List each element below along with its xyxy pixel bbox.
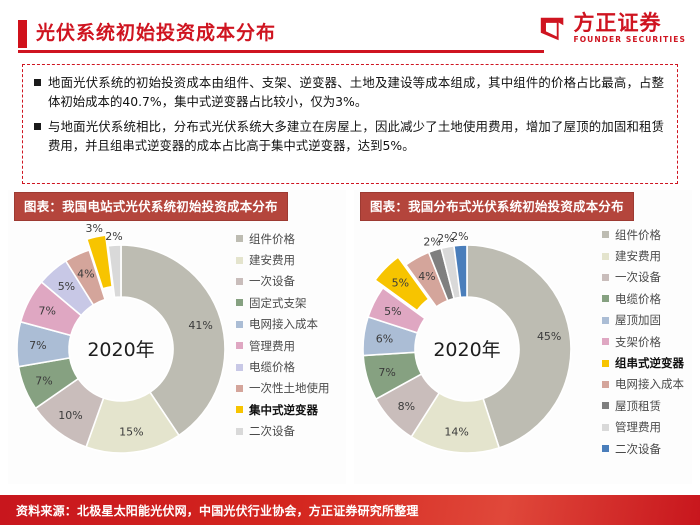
brand-logo: 方正证券 FOUNDER SECURITIES (538, 13, 686, 45)
legend-label: 屋顶加固 (615, 314, 661, 326)
legend-label: 二次设备 (615, 443, 661, 455)
legend-swatch-icon (236, 257, 243, 264)
legend-swatch-icon (602, 295, 609, 302)
summary-callout-box: 地面光伏系统的初始投资成本由组件、支架、逆变器、土地及建设等成本组成，其中组件的… (22, 64, 678, 184)
slice-value-label: 7% (29, 339, 46, 352)
legend-swatch-icon (602, 360, 609, 367)
legend-swatch-icon (602, 231, 609, 238)
legend-swatch-icon (602, 317, 609, 324)
legend-swatch-icon (236, 278, 243, 285)
legend-swatch-icon (602, 274, 609, 281)
summary-bullet-item: 地面光伏系统的初始投资成本由组件、支架、逆变器、土地及建设等成本组成，其中组件的… (32, 74, 664, 111)
square-bullet-icon (34, 79, 41, 86)
legend-swatch-icon (236, 342, 243, 349)
slice-value-label: 45% (537, 330, 561, 343)
legend-item[interactable]: 集中式逆变器 (236, 399, 330, 420)
legend-item[interactable]: 屋顶租赁 (602, 395, 684, 416)
legend-swatch-icon (602, 445, 609, 452)
founder-logo-icon (538, 14, 568, 44)
legend-item[interactable]: 管理费用 (236, 335, 330, 356)
slice-value-label: 14% (444, 426, 468, 439)
legend-item[interactable]: 组件价格 (236, 228, 330, 249)
donut-svg-0: 41%15%10%7%7%7%5%4%3%2%2020年 (8, 224, 238, 474)
chart-title-1: 图表：我国分布式光伏系统初始投资成本分布 (360, 192, 634, 221)
legend-swatch-icon (602, 381, 609, 388)
legend-item[interactable]: 电缆价格 (602, 288, 684, 309)
legend-item[interactable]: 电缆价格 (236, 356, 330, 377)
legend-swatch-icon (236, 428, 243, 435)
legend-swatch-icon (602, 402, 609, 409)
legend-label: 一次设备 (249, 275, 295, 287)
header-underline (18, 50, 544, 53)
legend-item[interactable]: 组件价格 (602, 224, 684, 245)
donut-chart-0: 41%15%10%7%7%7%5%4%3%2%2020年 组件价格建安费用一次设… (8, 224, 346, 482)
legend-label: 一次设备 (615, 271, 661, 283)
legend-label: 固定式支架 (249, 297, 307, 309)
donut-svg-1: 45%14%8%7%6%5%5%4%2%2%2%2020年 (354, 224, 584, 474)
legend-item[interactable]: 一次设备 (236, 271, 330, 292)
chart-legend-0: 组件价格建安费用一次设备固定式支架电网接入成本管理费用电缆价格一次性土地使用集中… (236, 228, 330, 442)
slice-value-label: 4% (418, 270, 435, 283)
legend-item[interactable]: 一次设备 (602, 267, 684, 288)
legend-item[interactable]: 一次性土地使用 (236, 378, 330, 399)
legend-label: 组件价格 (615, 229, 661, 241)
chart-legend-1: 组件价格建安费用一次设备电缆价格屋顶加固支架价格组串式逆变器电网接入成本屋顶租赁… (602, 224, 684, 459)
chart-panel-utility-scale: 图表：我国电站式光伏系统初始投资成本分布 41%15%10%7%7%7%5%4%… (8, 190, 346, 484)
legend-label: 电网接入成本 (615, 378, 684, 390)
legend-label: 一次性土地使用 (249, 382, 330, 394)
slice-value-label: 7% (39, 304, 56, 317)
slice-value-label: 4% (77, 268, 94, 281)
legend-swatch-icon (236, 385, 243, 392)
logo-text-cn: 方正证券 (573, 13, 686, 34)
legend-label: 电网接入成本 (249, 318, 318, 330)
slice-value-label: 7% (35, 375, 52, 388)
summary-bullet-text: 地面光伏系统的初始投资成本由组件、支架、逆变器、土地及建设等成本组成，其中组件的… (48, 74, 664, 111)
donut-center-label: 2020年 (433, 339, 500, 361)
legend-item[interactable]: 建安费用 (602, 245, 684, 266)
legend-swatch-icon (236, 235, 243, 242)
legend-item[interactable]: 支架价格 (602, 331, 684, 352)
legend-item[interactable]: 屋顶加固 (602, 310, 684, 331)
legend-swatch-icon (602, 424, 609, 431)
slice-value-label: 8% (398, 400, 415, 413)
legend-label: 管理费用 (615, 421, 661, 433)
slice-value-label: 2% (451, 230, 468, 243)
legend-swatch-icon (236, 406, 243, 413)
slice-value-label: 3% (85, 224, 102, 235)
legend-item[interactable]: 电网接入成本 (602, 374, 684, 395)
slice-value-label: 2% (105, 230, 122, 243)
slice-value-label: 15% (119, 426, 143, 439)
legend-label: 组件价格 (249, 233, 295, 245)
legend-item[interactable]: 固定式支架 (236, 292, 330, 313)
summary-bullet-item: 与地面光伏系统相比，分布式光伏系统大多建立在房屋上，因此减少了土地使用费用，增加… (32, 118, 664, 155)
slice-value-label: 5% (392, 276, 409, 289)
summary-bullet-text: 与地面光伏系统相比，分布式光伏系统大多建立在房屋上，因此减少了土地使用费用，增加… (48, 118, 664, 155)
legend-item[interactable]: 二次设备 (602, 438, 684, 459)
legend-swatch-icon (236, 299, 243, 306)
legend-label: 电缆价格 (615, 293, 661, 305)
legend-item[interactable]: 电网接入成本 (236, 314, 330, 335)
square-bullet-icon (34, 123, 41, 130)
slice-value-label: 5% (58, 280, 75, 293)
slice-value-label: 5% (384, 305, 401, 318)
slice-value-label: 6% (376, 333, 393, 346)
legend-label: 集中式逆变器 (249, 404, 318, 416)
page-header: 光伏系统初始投资成本分布 方正证券 FOUNDER SECURITIES (0, 0, 700, 62)
legend-label: 支架价格 (615, 336, 661, 348)
legend-label: 管理费用 (249, 340, 295, 352)
legend-swatch-icon (602, 253, 609, 260)
header-accent-bar (18, 20, 27, 48)
donut-chart-1: 45%14%8%7%6%5%5%4%2%2%2%2020年 组件价格建安费用一次… (354, 224, 692, 482)
legend-swatch-icon (236, 364, 243, 371)
legend-label: 组串式逆变器 (615, 357, 684, 369)
legend-swatch-icon (602, 338, 609, 345)
legend-item[interactable]: 二次设备 (236, 421, 330, 442)
slice-value-label: 10% (58, 409, 82, 422)
legend-label: 建安费用 (615, 250, 661, 262)
legend-item[interactable]: 管理费用 (602, 417, 684, 438)
legend-label: 屋顶租赁 (615, 400, 661, 412)
legend-label: 电缆价格 (249, 361, 295, 373)
donut-center-label: 2020年 (87, 339, 154, 361)
logo-text-en: FOUNDER SECURITIES (573, 34, 686, 45)
slice-value-label: 7% (378, 366, 395, 379)
page-title: 光伏系统初始投资成本分布 (36, 19, 276, 47)
slice-value-label: 41% (188, 319, 212, 332)
legend-swatch-icon (236, 321, 243, 328)
legend-label: 二次设备 (249, 425, 295, 437)
legend-label: 建安费用 (249, 254, 295, 266)
legend-item[interactable]: 组串式逆变器 (602, 352, 684, 373)
source-note: 资料来源：北极星太阳能光伏网，中国光伏行业协会，方正证券研究所整理 (16, 495, 419, 525)
legend-item[interactable]: 建安费用 (236, 249, 330, 270)
footer-bar: 资料来源：北极星太阳能光伏网，中国光伏行业协会，方正证券研究所整理 (0, 495, 700, 525)
chart-panel-distributed: 图表：我国分布式光伏系统初始投资成本分布 45%14%8%7%6%5%5%4%2… (354, 190, 692, 484)
chart-title-0: 图表：我国电站式光伏系统初始投资成本分布 (14, 192, 288, 221)
